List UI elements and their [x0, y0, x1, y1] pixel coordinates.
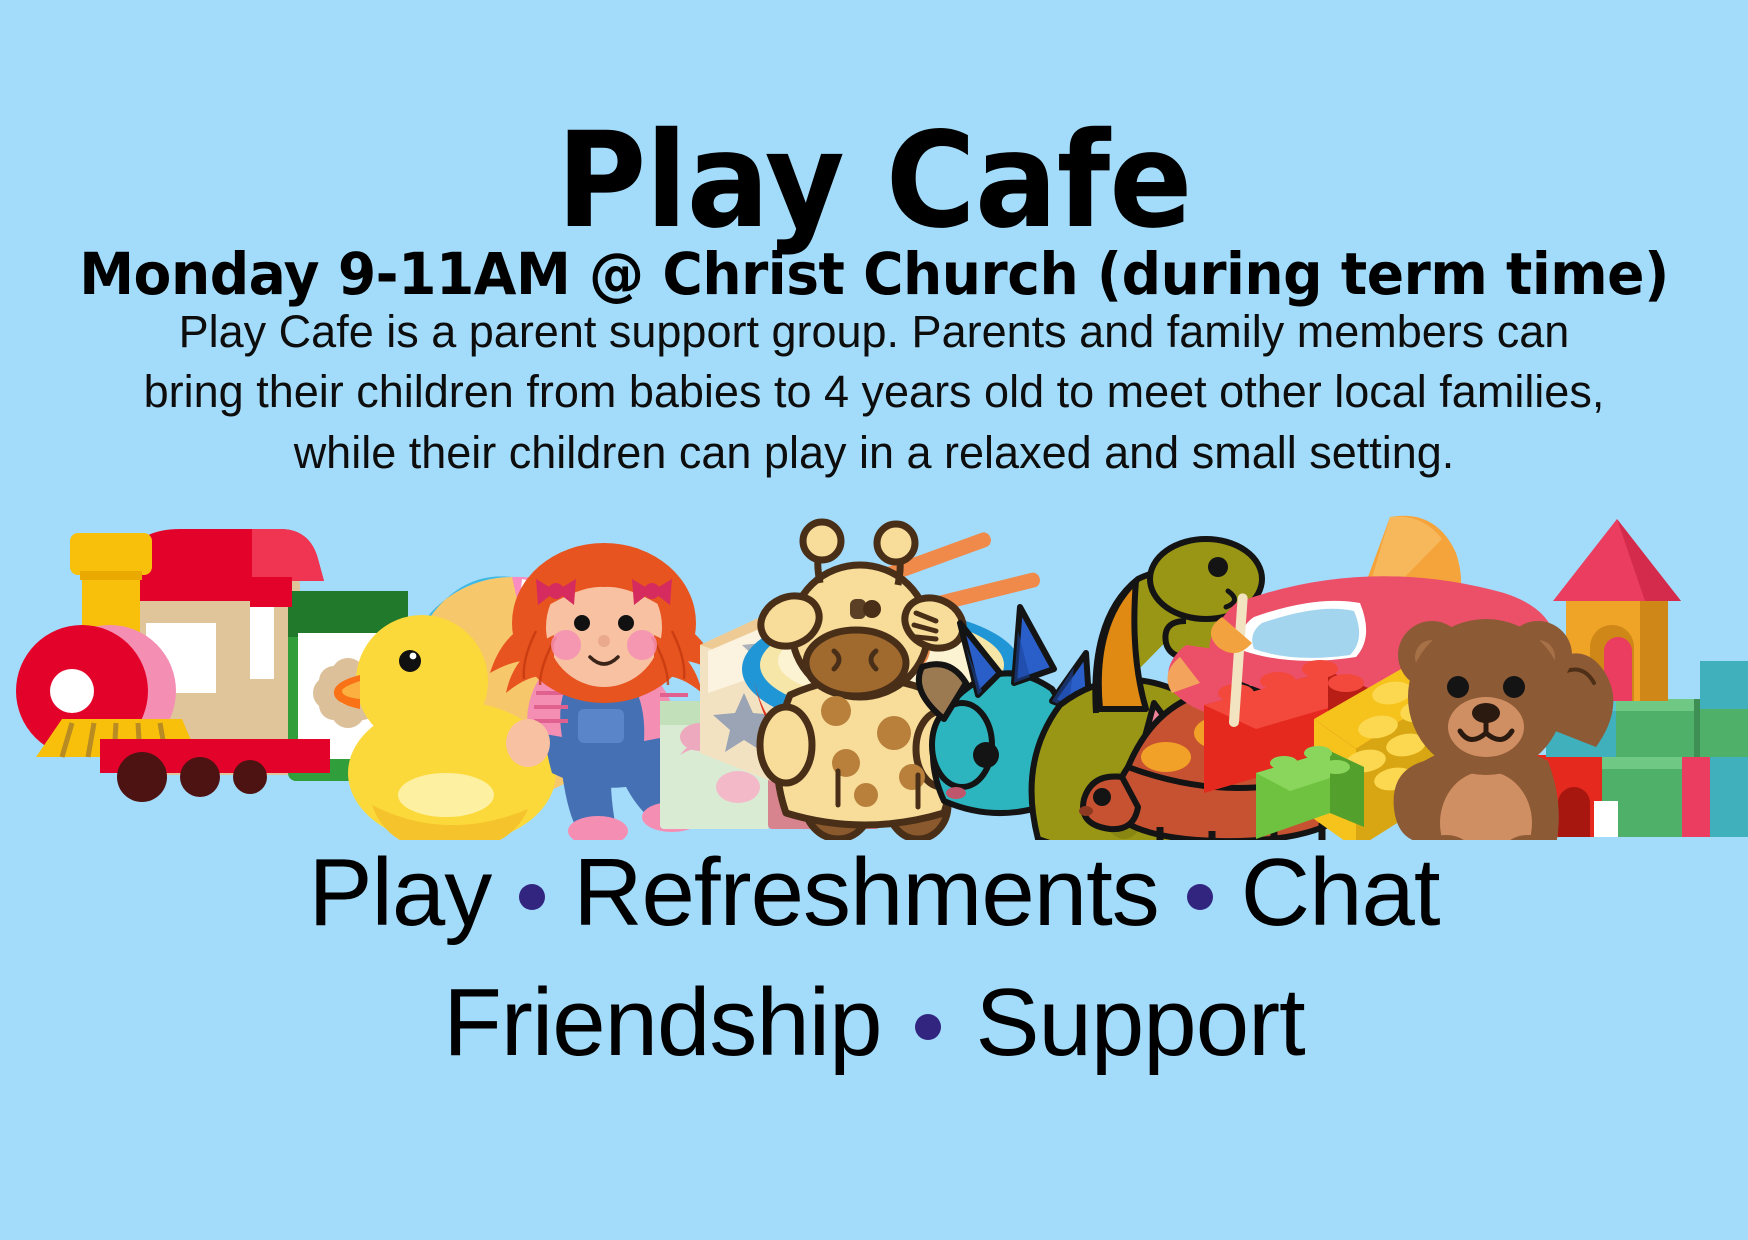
- tagline-row-1: Play Refreshments Chat: [0, 838, 1748, 948]
- description-line-1: Play Cafe is a parent support group. Par…: [54, 302, 1694, 362]
- tagline-support: Support: [975, 968, 1304, 1078]
- bullet-separator-icon: [915, 1014, 941, 1040]
- bullet-separator-icon: [519, 884, 545, 910]
- description-paragraph: Play Cafe is a parent support group. Par…: [54, 302, 1694, 483]
- tagline-row-2: Friendship Support: [0, 968, 1748, 1078]
- tagline-friendship: Friendship: [443, 968, 881, 1078]
- description-line-3: while their children can play in a relax…: [54, 423, 1694, 483]
- description-line-2: bring their children from babies to 4 ye…: [54, 362, 1694, 422]
- tagline-refreshments: Refreshments: [573, 838, 1159, 948]
- page-title: Play Cafe: [61, 114, 1687, 249]
- tagline-chat: Chat: [1241, 838, 1440, 948]
- page-subtitle: Monday 9-11AM @ Christ Church (during te…: [44, 244, 1705, 305]
- tagline-play: Play: [308, 838, 491, 948]
- bullet-separator-icon: [1187, 884, 1213, 910]
- toy-train-icon: [16, 529, 408, 802]
- poster-canvas: Play Cafe Monday 9-11AM @ Christ Church …: [0, 0, 1748, 1240]
- toys-illustration: [0, 505, 1748, 840]
